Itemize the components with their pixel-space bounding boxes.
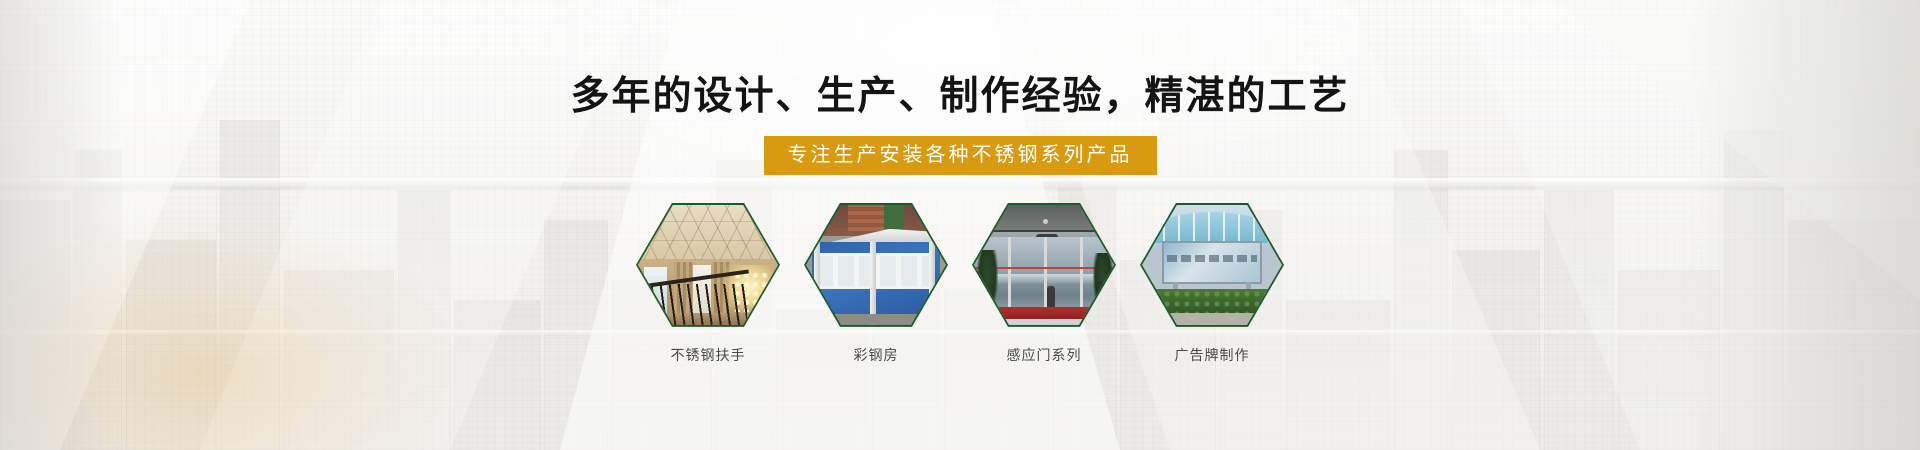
hexagon-image-clip bbox=[638, 205, 778, 325]
banner-headline: 多年的设计、生产、制作经验，精湛的工艺 bbox=[570, 76, 1349, 119]
hexagon-thumbnail-color-steel-house[interactable] bbox=[804, 203, 948, 327]
banner-content: 多年的设计、生产、制作经验，精湛的工艺 专注生产安装各种不锈钢系列产品 bbox=[0, 0, 1920, 450]
hexagon-image-clip bbox=[1142, 205, 1282, 325]
hexagon-thumbnail-handrail[interactable] bbox=[636, 203, 780, 327]
automatic-sensor-door-photo bbox=[974, 205, 1114, 325]
product-item-sensor-door[interactable]: 感应门系列 bbox=[972, 203, 1116, 365]
hexagon-image-clip bbox=[806, 205, 946, 325]
product-item-handrail[interactable]: 不锈钢扶手 bbox=[636, 203, 780, 365]
product-hexagon-row: 不锈钢扶手 彩钢房 bbox=[636, 203, 1284, 365]
product-item-billboard[interactable]: 广告牌制作 bbox=[1140, 203, 1284, 365]
product-item-color-steel-house[interactable]: 彩钢房 bbox=[804, 203, 948, 365]
product-label-handrail: 不锈钢扶手 bbox=[671, 345, 746, 365]
banner-subtitle-badge: 专注生产安装各种不锈钢系列产品 bbox=[764, 136, 1157, 175]
hexagon-thumbnail-sensor-door[interactable] bbox=[972, 203, 1116, 327]
hexagon-thumbnail-billboard[interactable] bbox=[1140, 203, 1284, 327]
hero-banner: 多年的设计、生产、制作经验，精湛的工艺 专注生产安装各种不锈钢系列产品 bbox=[0, 0, 1920, 450]
product-label-sensor-door: 感应门系列 bbox=[1007, 345, 1082, 365]
hexagon-image-clip bbox=[974, 205, 1114, 325]
color-steel-house-photo bbox=[806, 205, 946, 325]
product-label-billboard: 广告牌制作 bbox=[1175, 345, 1250, 365]
stainless-steel-handrail-photo bbox=[638, 205, 778, 325]
billboard-fabrication-photo bbox=[1142, 205, 1282, 325]
product-label-color-steel-house: 彩钢房 bbox=[854, 345, 899, 365]
